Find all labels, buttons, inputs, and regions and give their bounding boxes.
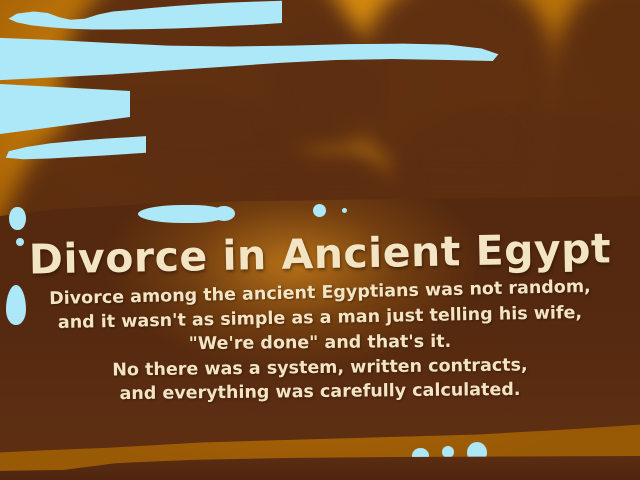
- caption-text-block: Divorce in Ancient Egypt Divorce among t…: [0, 234, 640, 405]
- slide-canvas: Divorce in Ancient Egypt Divorce among t…: [0, 0, 640, 480]
- cyan-dot-left-upper: [9, 207, 26, 230]
- caption-line-5: and everything was carefully calculated.: [0, 377, 640, 409]
- cyan-dot-bottom-2: [442, 446, 454, 458]
- cyan-dot-top-center: [313, 204, 326, 217]
- cyan-brush-stroke-tip: [213, 206, 235, 221]
- cyan-dot-top-center-small: [342, 208, 347, 213]
- slide-title: Divorce in Ancient Egypt: [0, 228, 640, 281]
